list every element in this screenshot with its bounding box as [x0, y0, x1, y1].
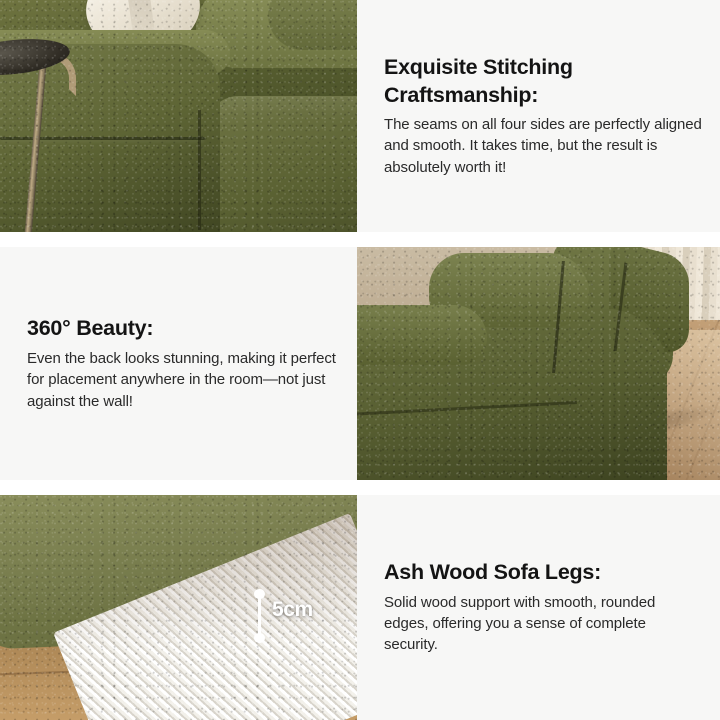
sofa-backrest-far: [268, 0, 357, 50]
sofa-leg-photo: 5cm: [0, 495, 357, 720]
stitching-seam-vertical: [198, 110, 201, 230]
feature-body: The seams on all four sides are perfectl…: [384, 114, 702, 178]
feature-heading: Exquisite Stitching Craftsmanship:: [384, 54, 702, 109]
feature-body: Solid wood support with smooth, rounded …: [384, 592, 702, 656]
dimension-endpoint-top-icon: [254, 589, 265, 600]
dimension-callout-5cm: 5cm: [252, 589, 348, 645]
feature-image-ash-wood-legs: 5cm: [0, 495, 357, 720]
feature-heading: 360° Beauty:: [27, 315, 339, 343]
feature-row-360-beauty: 360° Beauty: Even the back looks stunnin…: [0, 247, 720, 479]
row-divider-1: [0, 232, 720, 247]
feature-body: Even the back looks stunning, making it …: [27, 348, 339, 412]
feature-text-ash-wood-legs: Ash Wood Sofa Legs: Solid wood support w…: [357, 495, 720, 720]
feature-image-stitching: [0, 0, 357, 232]
feature-row-ash-wood-legs: 5cm Ash Wood Sofa Legs: Solid wood suppo…: [0, 495, 720, 720]
sofa-back-photo: [357, 247, 720, 479]
dimension-line: [258, 594, 261, 638]
feature-heading: Ash Wood Sofa Legs:: [384, 559, 702, 587]
stitching-seam-horizontal: [0, 137, 205, 140]
feature-image-360-beauty: [357, 247, 720, 479]
text-block: 360° Beauty: Even the back looks stunnin…: [27, 315, 339, 411]
feature-text-360-beauty: 360° Beauty: Even the back looks stunnin…: [0, 247, 357, 479]
text-block: Ash Wood Sofa Legs: Solid wood support w…: [384, 559, 702, 655]
sofa-corner-photo: [0, 0, 357, 232]
dimension-label: 5cm: [272, 599, 313, 620]
row-divider-2: [0, 480, 720, 495]
dimension-endpoint-bottom-icon: [254, 633, 265, 644]
product-feature-infographic: Exquisite Stitching Craftsmanship: The s…: [0, 0, 720, 720]
sofa-seat-cushion: [205, 96, 357, 232]
sofa-arm-roll: [357, 305, 487, 365]
text-block: Exquisite Stitching Craftsmanship: The s…: [384, 54, 702, 178]
feature-row-stitching: Exquisite Stitching Craftsmanship: The s…: [0, 0, 720, 232]
feature-text-stitching: Exquisite Stitching Craftsmanship: The s…: [357, 0, 720, 232]
